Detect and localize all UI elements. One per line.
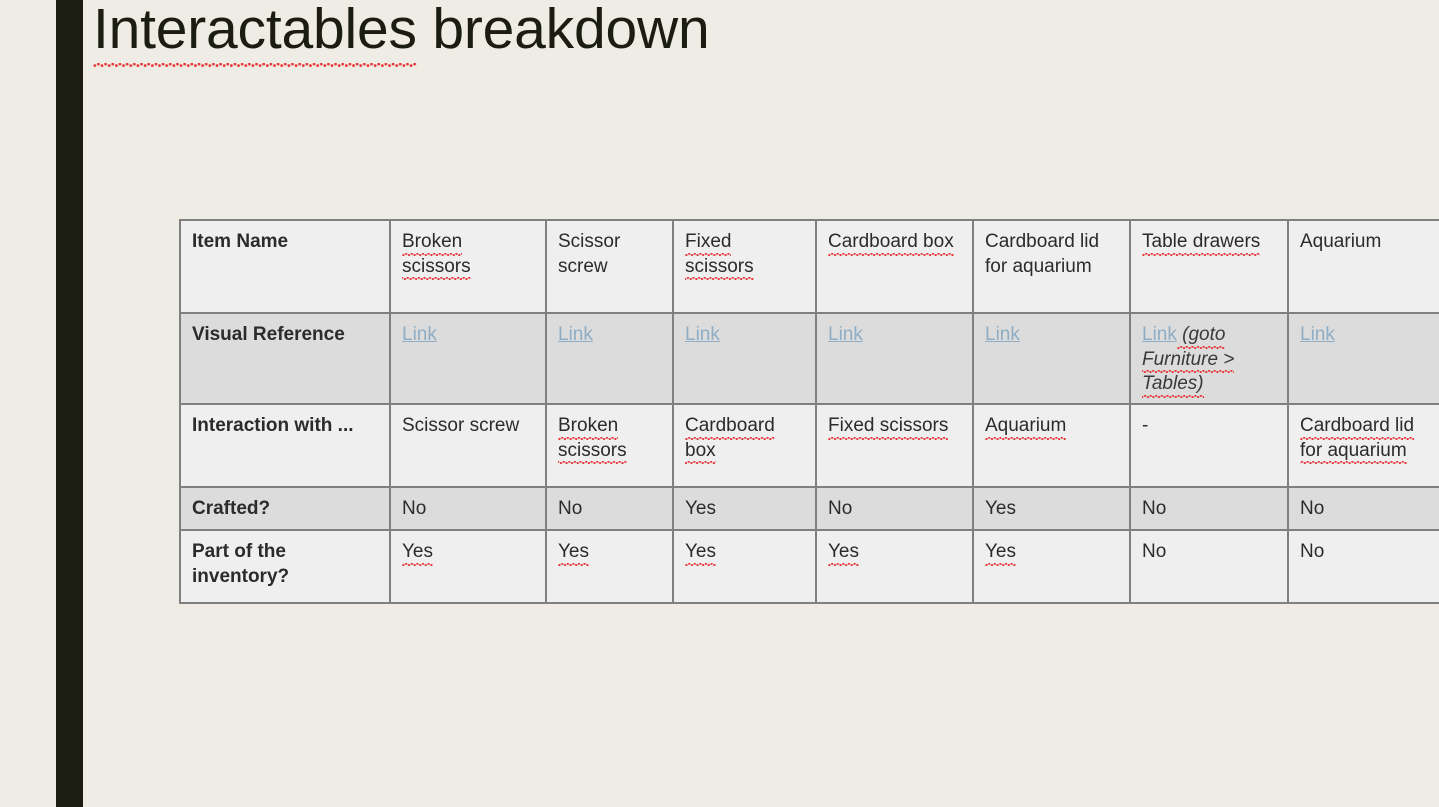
cell-item-name-2: Scissor screw <box>546 220 673 313</box>
cell-crafted-5: Yes <box>973 487 1130 530</box>
table-row-visual-reference: Visual Reference Link Link Link Link Lin… <box>180 313 1439 404</box>
page-title-misspelled-word: Interactables <box>93 0 417 67</box>
visual-reference-link-4[interactable]: Link <box>828 324 863 345</box>
cell-item-name-6: Table drawers <box>1130 220 1288 313</box>
cell-interaction-5: Aquarium <box>973 404 1130 487</box>
left-accent-bar <box>56 0 83 807</box>
cell-interaction-1: Scissor screw <box>390 404 546 487</box>
cell-interaction-2: Broken scissors <box>546 404 673 487</box>
cell-item-name-1: Broken scissors <box>390 220 546 313</box>
cell-crafted-2: No <box>546 487 673 530</box>
cell-crafted-6: No <box>1130 487 1288 530</box>
cell-item-name-3: Fixed scissors <box>673 220 816 313</box>
visual-reference-link-2[interactable]: Link <box>558 324 593 345</box>
cell-crafted-7: No <box>1288 487 1439 530</box>
cell-item-name-5: Cardboard lid for aquarium <box>973 220 1130 313</box>
table-row-item-name: Item Name Broken scissors Scissor screw … <box>180 220 1439 313</box>
visual-reference-link-1[interactable]: Link <box>402 324 437 345</box>
cell-crafted-3: Yes <box>673 487 816 530</box>
table-row-part-of-inventory: Part of the inventory? Yes Yes Yes Yes Y… <box>180 530 1439 603</box>
cell-visual-reference-2[interactable]: Link <box>546 313 673 404</box>
visual-reference-link-6[interactable]: Link <box>1142 324 1177 345</box>
cell-visual-reference-7[interactable]: Link <box>1288 313 1439 404</box>
row-label-interaction-with: Interaction with ... <box>180 404 390 487</box>
table-row-interaction-with: Interaction with ... Scissor screw Broke… <box>180 404 1439 487</box>
visual-reference-link-7[interactable]: Link <box>1300 324 1335 345</box>
visual-reference-link-5[interactable]: Link <box>985 324 1020 345</box>
cell-inventory-4: Yes <box>816 530 973 603</box>
cell-crafted-4: No <box>816 487 973 530</box>
cell-visual-reference-3[interactable]: Link <box>673 313 816 404</box>
cell-crafted-1: No <box>390 487 546 530</box>
cell-item-name-4: Cardboard box <box>816 220 973 313</box>
cell-visual-reference-4[interactable]: Link <box>816 313 973 404</box>
cell-item-name-7: Aquarium <box>1288 220 1439 313</box>
cell-inventory-1: Yes <box>390 530 546 603</box>
cell-inventory-6: No <box>1130 530 1288 603</box>
interactables-breakdown-table: Item Name Broken scissors Scissor screw … <box>179 219 1439 604</box>
cell-visual-reference-1[interactable]: Link <box>390 313 546 404</box>
visual-reference-link-3[interactable]: Link <box>685 324 720 345</box>
cell-inventory-5: Yes <box>973 530 1130 603</box>
cell-interaction-4: Fixed scissors <box>816 404 973 487</box>
cell-interaction-7: Cardboard lid for aquarium <box>1288 404 1439 487</box>
table-row-crafted: Crafted? No No Yes No Yes No No <box>180 487 1439 530</box>
row-label-crafted: Crafted? <box>180 487 390 530</box>
cell-visual-reference-5[interactable]: Link <box>973 313 1130 404</box>
cell-interaction-3: Cardboard box <box>673 404 816 487</box>
cell-visual-reference-6[interactable]: Link (goto Furniture > Tables) <box>1130 313 1288 404</box>
row-label-part-of-inventory: Part of the inventory? <box>180 530 390 603</box>
cell-interaction-6: - <box>1130 404 1288 487</box>
row-label-visual-reference: Visual Reference <box>180 313 390 404</box>
cell-inventory-7: No <box>1288 530 1439 603</box>
row-label-item-name: Item Name <box>180 220 390 313</box>
page-title-rest: breakdown <box>417 0 710 61</box>
cell-inventory-2: Yes <box>546 530 673 603</box>
page-title: Interactables breakdown <box>93 0 709 63</box>
cell-inventory-3: Yes <box>673 530 816 603</box>
